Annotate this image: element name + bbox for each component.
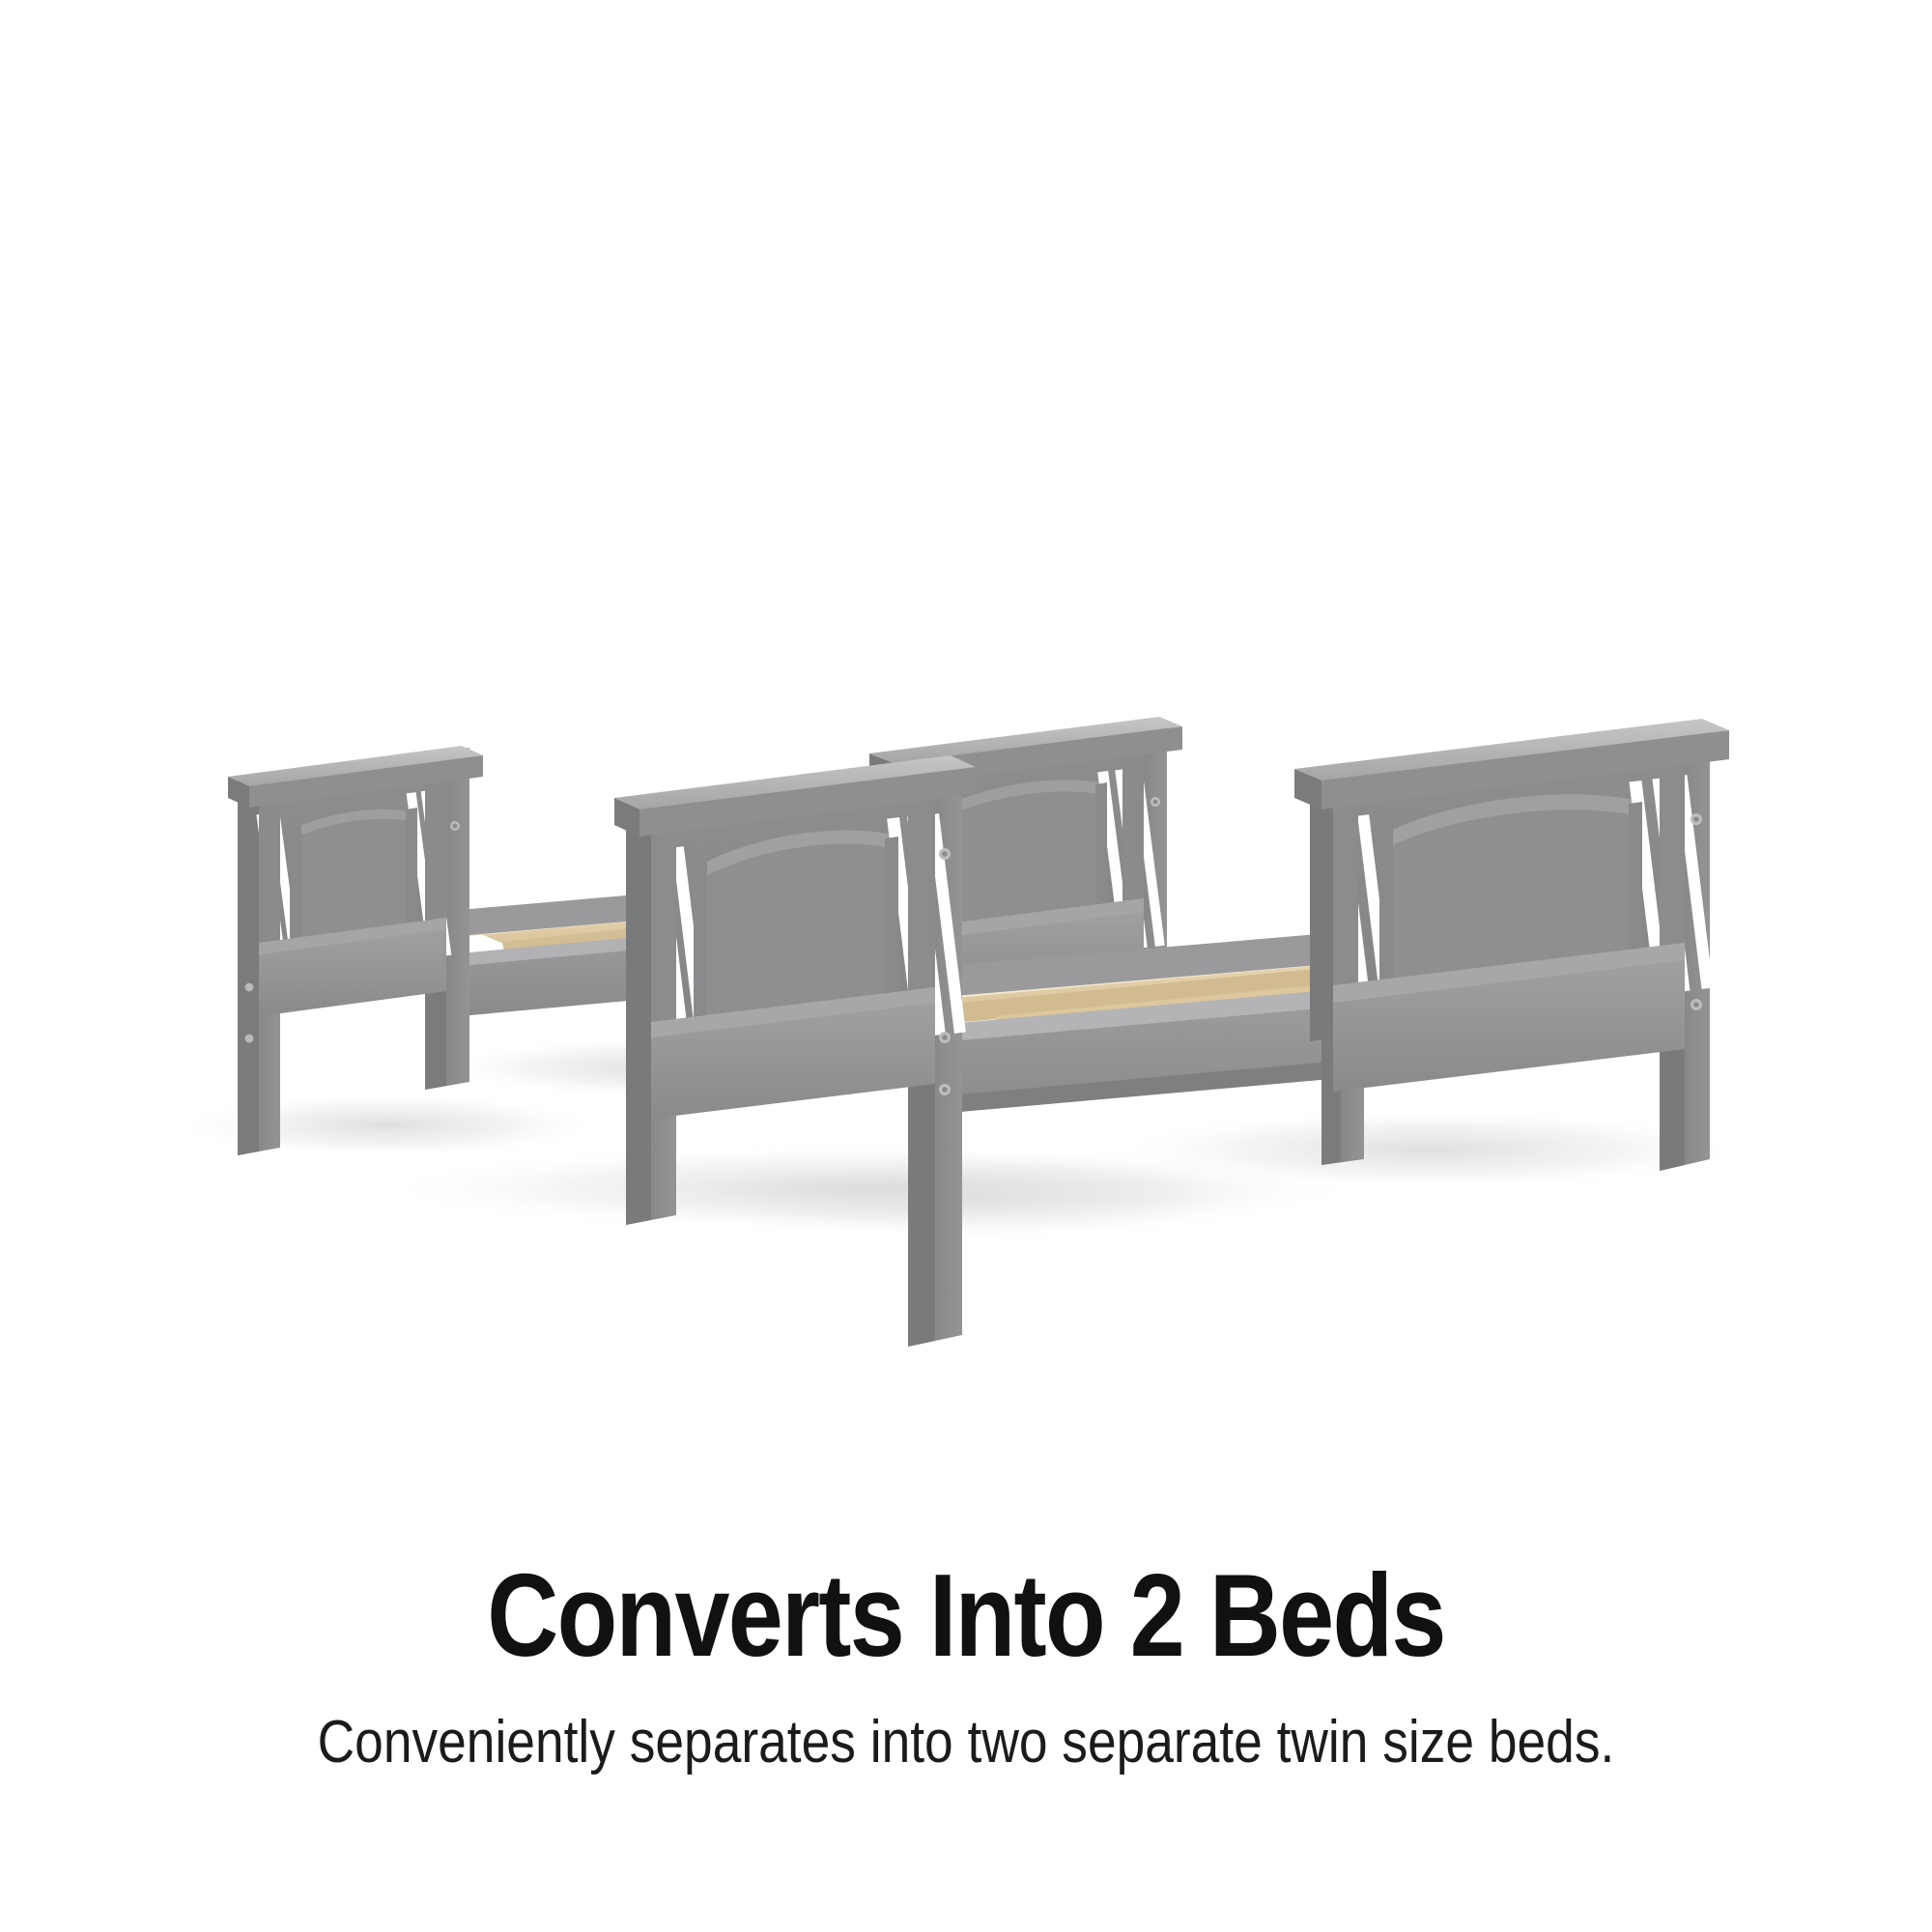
caption-block: Converts Into 2 Beds Conveniently separa… <box>0 1555 1932 1777</box>
front-bed-footboard <box>614 755 976 1347</box>
product-marketing-image: Converts Into 2 Beds Conveniently separa… <box>0 0 1932 1932</box>
product-illustration <box>0 0 1932 1507</box>
beds-illustration <box>0 0 1932 1507</box>
page-title: Converts Into 2 Beds <box>155 1555 1777 1675</box>
front-bed <box>614 719 1729 1347</box>
page-subtitle: Conveniently separates into two separate… <box>135 1675 1797 1776</box>
